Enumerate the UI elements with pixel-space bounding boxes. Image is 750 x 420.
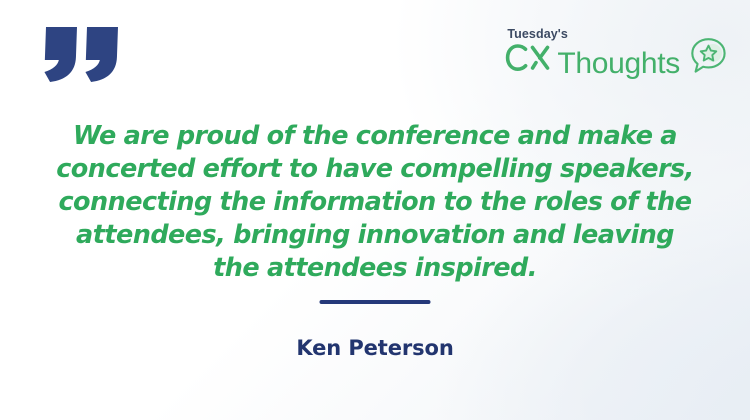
quote-text: We are proud of the conference and make … [52, 120, 698, 285]
brand-wordmark: Tuesday's Thoughts [505, 28, 680, 77]
brand-logo: Tuesday's Thoughts [505, 28, 728, 77]
quote-card: Tuesday's Thoughts We [0, 0, 750, 420]
brand-kicker: Tuesday's [507, 28, 568, 41]
speech-bubble-star-icon [688, 36, 728, 76]
author-name: Ken Peterson [0, 336, 750, 360]
attribution-divider [320, 300, 431, 304]
double-quote-icon [43, 27, 121, 82]
cx-monogram-icon [505, 43, 557, 73]
brand-title-word: Thoughts [557, 50, 680, 78]
brand-title: Thoughts [505, 43, 680, 78]
